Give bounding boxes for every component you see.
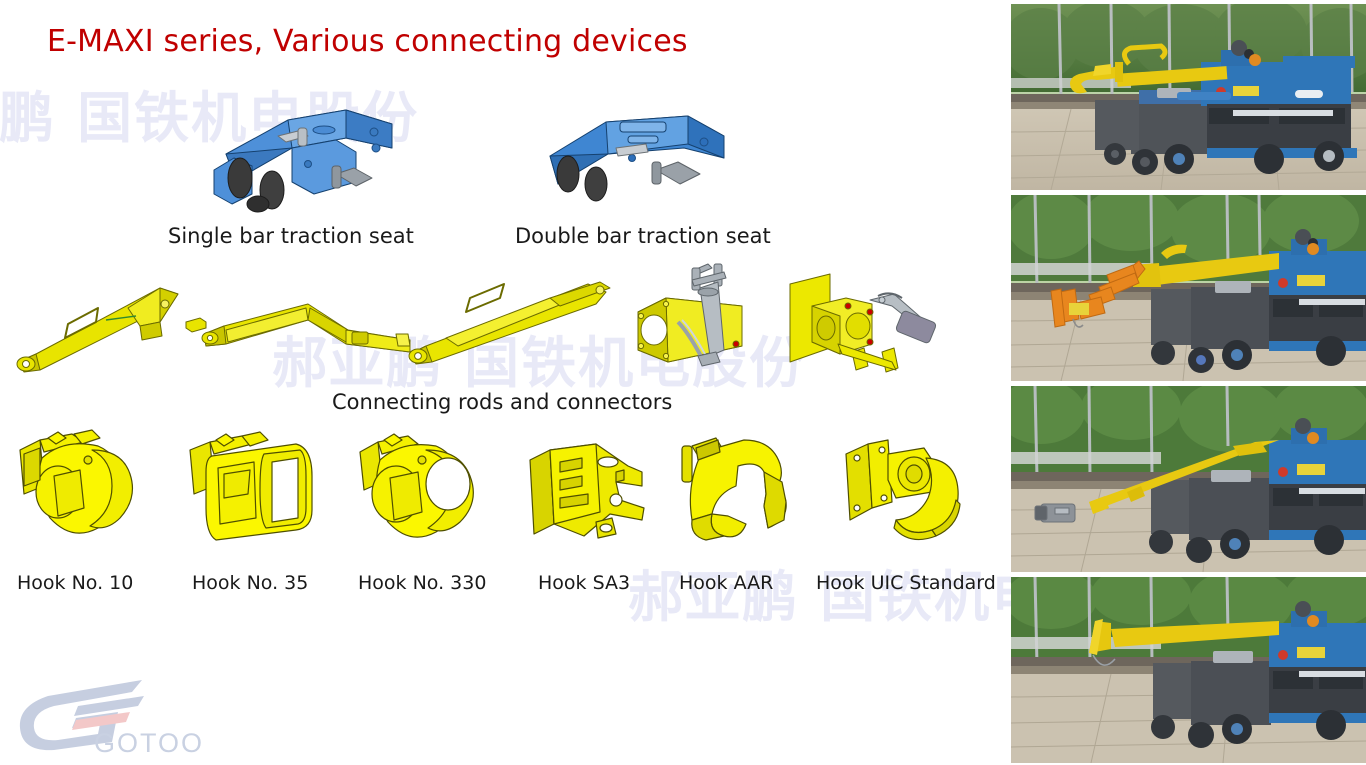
double-bar-traction-seat-model xyxy=(528,96,738,212)
photo-shunting-vehicle-with-flat-spade-connector xyxy=(1011,577,1366,763)
caption-hook-no-330: Hook No. 330 xyxy=(358,572,486,594)
caption-hook-no-10: Hook No. 10 xyxy=(17,572,133,594)
gotoo-logo: GOTOO xyxy=(14,676,214,760)
caption-hook-sa3: Hook SA3 xyxy=(538,572,630,594)
bent-connecting-rod-long-model xyxy=(196,290,416,370)
connecting-rod-with-cylinder-model xyxy=(400,276,620,366)
hook-caption-row: Hook No. 10 Hook No. 35 Hook No. 330 Hoo… xyxy=(0,572,1010,598)
hook-aar-model xyxy=(672,428,802,550)
hook-uic-standard-model xyxy=(840,432,970,550)
photo-shunting-vehicle-with-grey-connector-head xyxy=(1011,386,1366,572)
photo-shunting-vehicle-with-orange-gripper-arm xyxy=(1011,195,1366,381)
caption-hook-aar: Hook AAR xyxy=(679,572,773,594)
photo-shunting-vehicle-with-yellow-hook-arm xyxy=(1011,4,1366,190)
caption-double-bar-traction-seat: Double bar traction seat xyxy=(515,224,771,248)
caption-hook-no-35: Hook No. 35 xyxy=(192,572,308,594)
slide-canvas: 亚鹏 国铁机电股份 郝亚鹏 国铁机电股份 郝亚鹏 国铁机电 E-MAXI ser… xyxy=(0,0,1366,765)
hook-no-35-model xyxy=(186,424,326,554)
connector-block-with-bracket-model xyxy=(632,262,767,382)
caption-connecting-rods: Connecting rods and connectors xyxy=(332,390,672,414)
hook-no-330-model xyxy=(356,422,496,554)
hook-sa3-model xyxy=(524,438,654,550)
page-title: E-MAXI series, Various connecting device… xyxy=(47,24,688,59)
photo-strip xyxy=(1011,0,1366,765)
caption-single-bar-traction-seat: Single bar traction seat xyxy=(168,224,414,248)
hook-no-10-model xyxy=(14,424,154,554)
straight-rod-with-spade-end-model xyxy=(10,278,190,374)
logo-text: GOTOO xyxy=(94,728,204,758)
single-bar-traction-seat-model xyxy=(196,82,406,212)
caption-hook-uic-standard: Hook UIC Standard xyxy=(816,572,996,594)
connector-head-with-flange-plate-model xyxy=(786,270,956,380)
